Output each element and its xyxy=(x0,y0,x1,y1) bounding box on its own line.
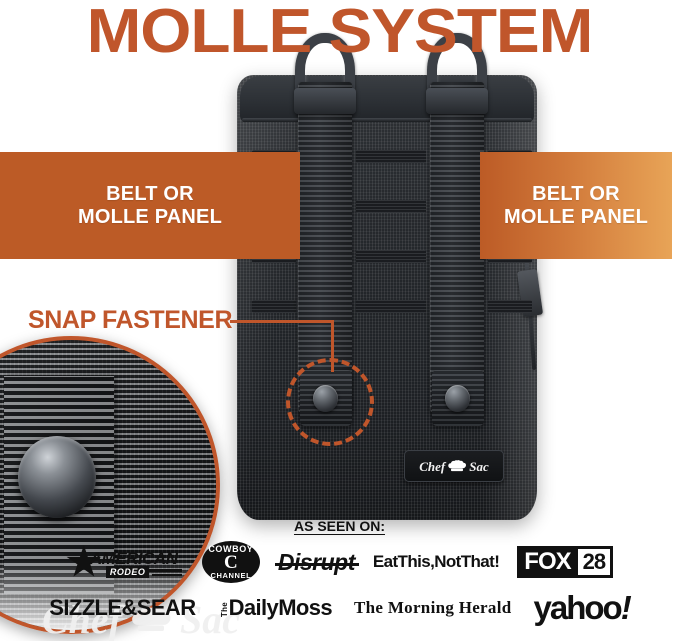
callout-leader-line-vertical xyxy=(331,320,334,372)
strap-fold-right xyxy=(426,88,488,114)
infographic-canvas: MOLLE SYSTEM Chef xyxy=(0,0,679,641)
molle-webbing-row xyxy=(252,300,296,313)
bag-seam xyxy=(242,118,532,122)
logo-yahoo-bang: ! xyxy=(621,589,630,627)
banner-right-text: BELT OR MOLLE PANEL xyxy=(504,183,648,228)
bag-top-flap xyxy=(240,76,534,122)
molle-strap-right xyxy=(430,82,484,412)
callout-dashed-circle xyxy=(286,358,374,446)
molle-webbing-row xyxy=(356,250,426,263)
logo-the-morning-herald: The Morning Herald xyxy=(354,598,511,618)
logo-fox-28: FOX 28 xyxy=(517,546,613,578)
logo-cowboy-channel-bottom: CHANNEL xyxy=(202,571,260,580)
logo-the-daily-moss-name: DailyMoss xyxy=(229,595,332,621)
logo-the-daily-moss: The DailyMoss xyxy=(217,595,332,621)
page-title: MOLLE SYSTEM xyxy=(0,0,679,67)
press-logos-row-1: AMERICAN RODEO COWBOY C CHANNEL Disrupt … xyxy=(0,539,679,585)
logo-american-rodeo-bar xyxy=(148,569,182,572)
logo-american-rodeo-line2: RODEO xyxy=(106,566,150,578)
logo-the-daily-moss-the: The xyxy=(221,602,230,617)
logo-american-rodeo: AMERICAN RODEO xyxy=(66,543,184,581)
snap-fastener-right xyxy=(445,385,470,412)
banner-left-text: BELT OR MOLLE PANEL xyxy=(78,183,222,228)
logo-cowboy-channel-monogram: C xyxy=(202,553,260,572)
banner-belt-or-molle-panel-right: BELT OR MOLLE PANEL xyxy=(480,152,672,259)
chef-hat-icon xyxy=(448,460,466,472)
logo-yahoo: yahoo! xyxy=(534,589,630,627)
molle-webbing-row xyxy=(356,150,426,163)
brand-patch-right-word: Sac xyxy=(469,460,489,473)
logo-fox-word: FOX xyxy=(517,546,577,578)
logo-cowboy-channel: COWBOY C CHANNEL xyxy=(202,541,260,583)
logo-disrupt: Disrupt xyxy=(278,549,355,576)
callout-leader-line-horizontal xyxy=(230,320,334,323)
logo-fox-number: 28 xyxy=(578,546,613,578)
logo-eat-this-not-that: EatThis,NotThat! xyxy=(373,552,499,572)
logo-yahoo-word: yahoo xyxy=(534,589,621,627)
brand-patch-left-word: Chef xyxy=(419,460,445,473)
snap-fastener-label: SNAP FASTENER xyxy=(28,306,232,335)
strap-fold-left xyxy=(294,88,356,114)
as-seen-on-heading: AS SEEN ON: xyxy=(0,518,679,534)
molle-webbing-row xyxy=(356,200,426,213)
molle-webbing-row xyxy=(356,300,426,313)
brand-patch: Chef Sac xyxy=(404,450,504,482)
logo-sizzle-and-sear: SIZZLE&SEAR xyxy=(49,595,195,621)
press-logos-row-2: SIZZLE&SEAR The DailyMoss The Morning He… xyxy=(0,586,679,630)
banner-belt-or-molle-panel-left: BELT OR MOLLE PANEL xyxy=(0,152,300,259)
closeup-snap-button xyxy=(18,436,96,518)
logo-american-rodeo-bar2 xyxy=(152,574,182,576)
molle-webbing-row xyxy=(488,300,532,313)
